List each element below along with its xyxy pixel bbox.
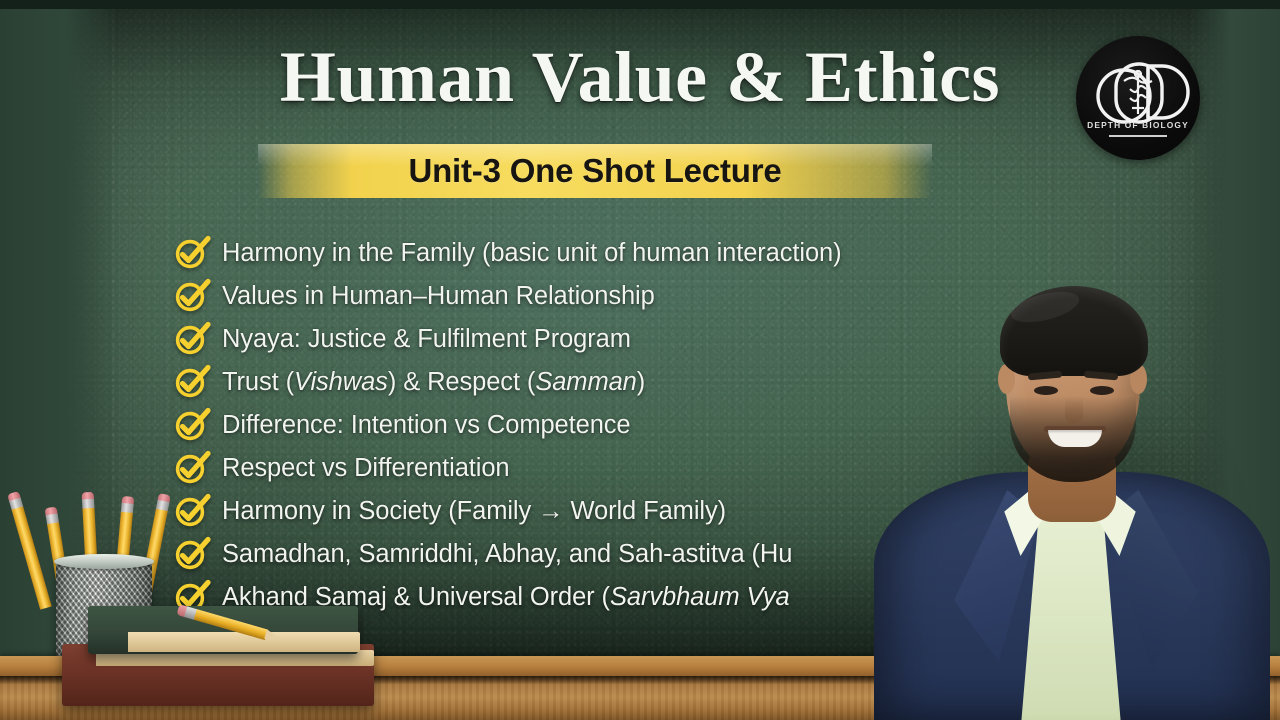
list-item-label: Trust (Vishwas) & Respect (Samman) [222,368,645,397]
subtitle-label: Unit-3 One Shot Lecture [408,152,781,190]
book-top-pages [128,632,360,652]
channel-logo[interactable]: DEPTH OF BIOLOGY [1076,36,1200,160]
top-letterbox-bar [0,0,1280,9]
logo-caption: DEPTH OF BIOLOGY [1076,120,1200,130]
check-circle-icon [172,277,212,317]
list-item-label: Nyaya: Justice & Fulfilment Program [222,325,631,354]
dob-monogram-icon [1076,36,1200,160]
list-item-label: Difference: Intention vs Competence [222,411,631,440]
presenter-photo [862,246,1280,720]
presenter-eye-right [1090,386,1114,395]
check-circle-icon [172,363,212,403]
list-item-label: Harmony in the Family (basic unit of hum… [222,239,842,268]
presenter-nose [1065,396,1083,424]
logo-underline [1109,135,1167,137]
presenter-smile [1048,430,1102,447]
check-circle-icon [172,320,212,360]
presenter-eye-left [1034,386,1058,395]
list-item-label: Respect vs Differentiation [222,454,510,483]
check-circle-icon [172,234,212,274]
slide-canvas: Human Value & Ethics Unit-3 One Shot Lec… [0,0,1280,720]
cup-rim [54,554,154,569]
list-item-label: Values in Human–Human Relationship [222,282,655,311]
list-item-label: Samadhan, Samriddhi, Abhay, and Sah-asti… [222,540,792,569]
check-circle-icon [172,406,212,446]
subtitle-banner: Unit-3 One Shot Lecture [258,144,932,198]
list-item-label: Harmony in Society (Family → World Famil… [222,497,726,526]
